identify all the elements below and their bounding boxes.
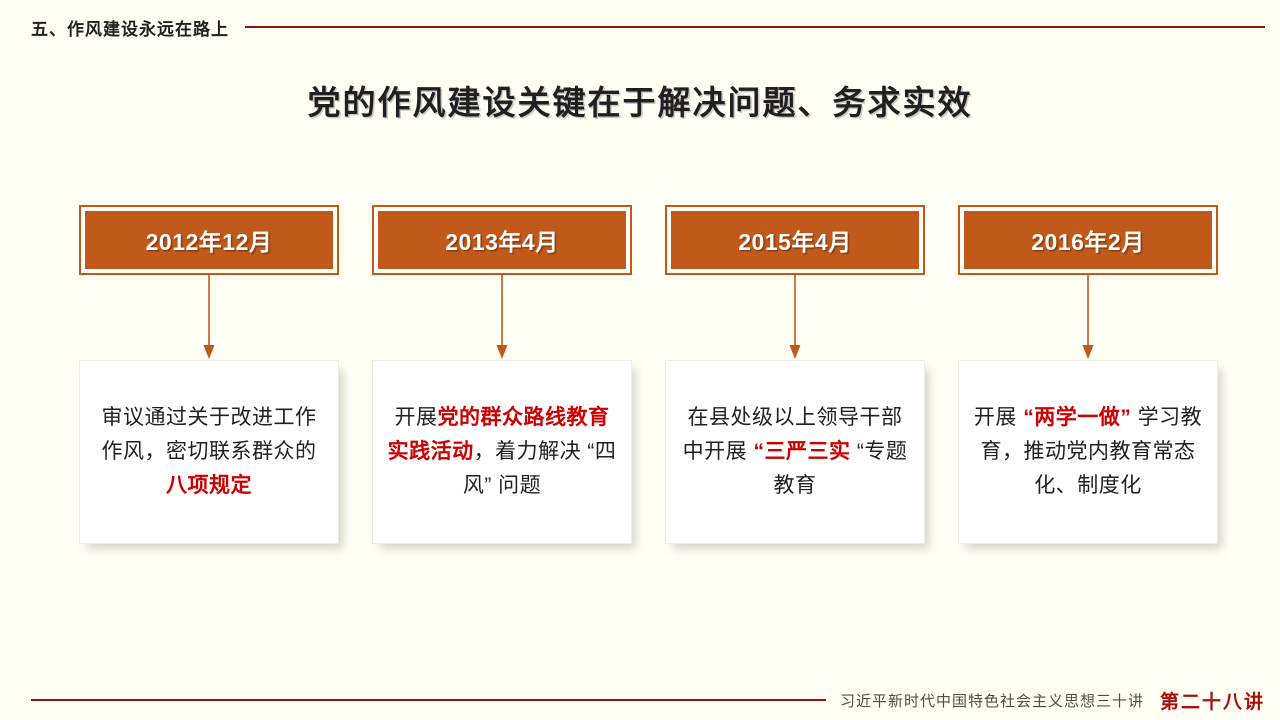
date-badge-inner: 2013年4月 xyxy=(378,211,626,269)
body-phrase: 开展 xyxy=(395,406,438,429)
footer-course-name: 习近平新时代中国特色社会主义思想三十讲 xyxy=(840,690,1144,711)
slide-header: 五、作风建设永远在路上 xyxy=(0,12,1280,42)
content-card[interactable]: 开展 “两学一做” 学习教育，推动党内教育常态化、制度化 xyxy=(958,360,1218,544)
timeline-item: 2015年4月 在县处级以上领导干部中开展 “三严三实 “专题教育 xyxy=(665,205,925,545)
footer-divider-line xyxy=(31,699,826,701)
body-phrase: ，着力解决 “四风” 问题 xyxy=(463,440,617,497)
date-badge[interactable]: 2015年4月 xyxy=(665,205,925,275)
date-badge-inner: 2012年12月 xyxy=(85,211,333,269)
arrow-down-icon xyxy=(787,275,803,360)
page-title: 党的作风建设关键在于解决问题、务求实效 xyxy=(0,76,1280,124)
arrow-down-icon xyxy=(494,275,510,360)
section-title: 五、作风建设永远在路上 xyxy=(31,15,229,40)
arrow-down-icon xyxy=(1080,275,1096,360)
date-badge[interactable]: 2016年2月 xyxy=(958,205,1218,275)
body-phrase: 审议通过关于改进工作作风，密切联系群众的 xyxy=(102,406,317,463)
header-divider-line xyxy=(245,26,1265,28)
content-card-text-2: 在县处级以上领导干部中开展 “三严三实 “专题教育 xyxy=(680,401,910,503)
date-badge-inner: 2016年2月 xyxy=(964,211,1212,269)
content-card-text-1: 开展党的群众路线教育实践活动，着力解决 “四风” 问题 xyxy=(387,401,617,503)
date-badge-inner: 2015年4月 xyxy=(671,211,919,269)
content-card[interactable]: 在县处级以上领导干部中开展 “三严三实 “专题教育 xyxy=(665,360,925,544)
content-card-text-0: 审议通过关于改进工作作风，密切联系群众的八项规定 xyxy=(94,401,324,503)
timeline-item: 2013年4月 开展党的群众路线教育实践活动，着力解决 “四风” 问题 xyxy=(372,205,632,545)
highlighted-phrase: 八项规定 xyxy=(166,474,252,497)
date-badge[interactable]: 2012年12月 xyxy=(79,205,339,275)
date-label: 2015年4月 xyxy=(738,223,851,257)
date-label: 2016年2月 xyxy=(1031,223,1144,257)
content-card[interactable]: 审议通过关于改进工作作风，密切联系群众的八项规定 xyxy=(79,360,339,544)
date-label: 2012年12月 xyxy=(146,223,273,257)
slide-footer: 习近平新时代中国特色社会主义思想三十讲 第二十八讲 xyxy=(31,683,1265,717)
date-label: 2013年4月 xyxy=(445,223,558,257)
arrow-down-icon xyxy=(201,275,217,360)
highlighted-phrase: “两学一做” xyxy=(1023,406,1131,429)
timeline: 2012年12月 审议通过关于改进工作作风，密切联系群众的八项规定 2013年4… xyxy=(79,205,1218,545)
footer-lecture-number: 第二十八讲 xyxy=(1160,687,1265,714)
date-badge[interactable]: 2013年4月 xyxy=(372,205,632,275)
content-card[interactable]: 开展党的群众路线教育实践活动，着力解决 “四风” 问题 xyxy=(372,360,632,544)
timeline-item: 2012年12月 审议通过关于改进工作作风，密切联系群众的八项规定 xyxy=(79,205,339,545)
content-card-text-3: 开展 “两学一做” 学习教育，推动党内教育常态化、制度化 xyxy=(973,401,1203,503)
timeline-item: 2016年2月 开展 “两学一做” 学习教育，推动党内教育常态化、制度化 xyxy=(958,205,1218,545)
highlighted-phrase: “三严三实 xyxy=(754,440,851,463)
body-phrase: 开展 xyxy=(974,406,1023,429)
